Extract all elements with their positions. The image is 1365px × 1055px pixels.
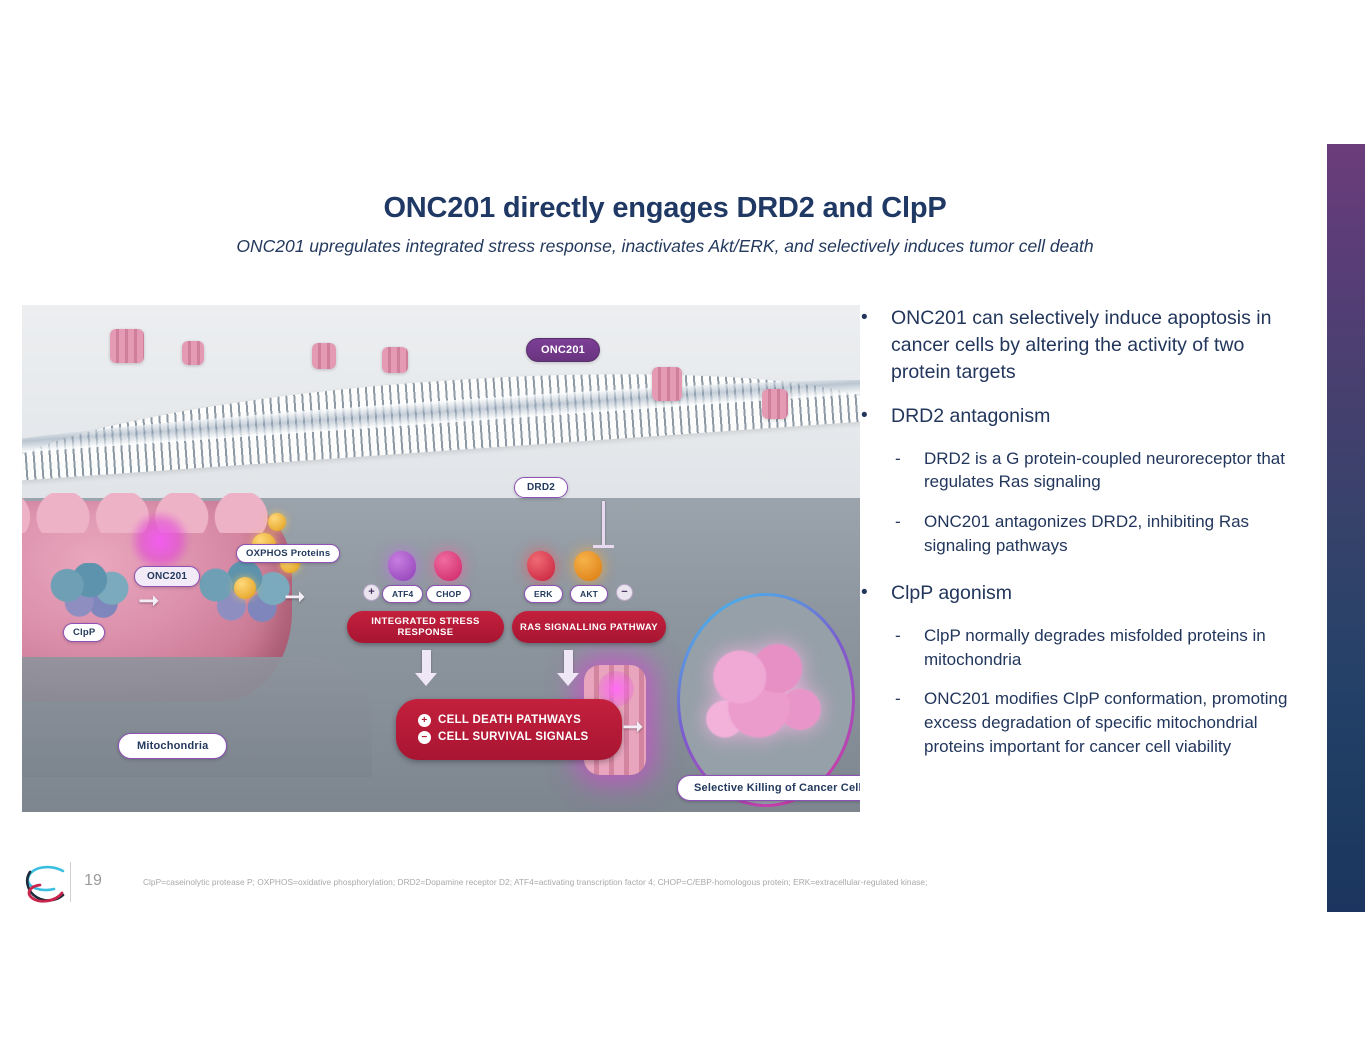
akt-protein-icon <box>574 551 602 581</box>
figure-label-oxphos-proteins: OXPHOS Proteins <box>236 544 340 563</box>
ras-signalling-pathway-bar: RAS SIGNALLING PATHWAY <box>512 611 666 643</box>
cell-survival-line: − CELL SURVIVAL SIGNALS <box>418 729 600 746</box>
sub-bullet-text: ClpP normally degrades misfolded protein… <box>924 624 1305 672</box>
flow-arrow-icon: ➞ <box>284 583 306 609</box>
bullet-text: ClpP agonism <box>891 580 1012 607</box>
sub-bullet-item: - ONC201 antagonizes DRD2, inhibiting Ra… <box>895 510 1305 558</box>
page-number: 19 <box>80 872 106 890</box>
clpp-protein-cluster-left <box>50 563 136 619</box>
footer-divider <box>70 862 71 902</box>
figure-label-akt: AKT <box>570 585 608 603</box>
cell-fate-outcome-box: + CELL DEATH PATHWAYS − CELL SURVIVAL SI… <box>396 699 622 760</box>
chop-protein-icon <box>434 551 462 581</box>
mechanism-of-action-figure: ➞ ➞ + − ONC201 DRD2 ONC201 OXPHOS Protei… <box>22 305 860 812</box>
figure-label-chop: CHOP <box>426 585 471 603</box>
sub-bullet-marker: - <box>895 687 924 758</box>
onc201-glow <box>130 511 190 571</box>
figure-label-onc201-membrane: ONC201 <box>526 338 600 362</box>
figure-label-erk: ERK <box>524 585 563 603</box>
minus-symbol-icon: − <box>418 731 431 744</box>
company-logo <box>22 862 68 906</box>
inhibition-arrow-icon <box>602 501 605 545</box>
oxphos-protein-dot <box>268 513 286 531</box>
figure-label-drd2: DRD2 <box>514 477 568 498</box>
atf4-protein-icon <box>388 551 416 581</box>
bullet-marker: • <box>855 403 891 430</box>
down-arrow-icon <box>422 650 431 674</box>
flow-arrow-icon: ➞ <box>138 587 160 613</box>
cell-survival-signals-label: CELL SURVIVAL SIGNALS <box>438 729 589 746</box>
bullet-marker: • <box>855 580 891 607</box>
plus-symbol-icon: + <box>418 714 431 727</box>
sub-bullet-item: - ClpP normally degrades misfolded prote… <box>895 624 1305 672</box>
receptor-protein-icon <box>762 389 788 419</box>
sub-bullet-item: - ONC201 modifies ClpP conformation, pro… <box>895 687 1305 758</box>
receptor-protein-icon <box>652 367 682 401</box>
activation-plus-symbol: + <box>363 584 380 601</box>
bullet-marker: • <box>855 305 891 386</box>
bullet-text: ONC201 can selectively induce apoptosis … <box>891 305 1305 386</box>
page-subtitle: ONC201 upregulates integrated stress res… <box>0 236 1330 257</box>
down-arrow-icon <box>564 650 573 674</box>
mitochondrion-shadow <box>22 657 372 777</box>
erk-protein-icon <box>527 551 555 581</box>
integrated-stress-response-bar: INTEGRATED STRESS RESPONSE <box>347 611 504 643</box>
sub-bullet-marker: - <box>895 624 924 672</box>
inhibition-minus-symbol: − <box>616 584 633 601</box>
sub-bullet-marker: - <box>895 510 924 558</box>
oxphos-protein-dot <box>234 577 256 599</box>
sub-bullet-item: - DRD2 is a G protein-coupled neurorecep… <box>895 447 1305 495</box>
bullet-text: DRD2 antagonism <box>891 403 1050 430</box>
sub-bullet-marker: - <box>895 447 924 495</box>
sub-bullet-text: DRD2 is a G protein-coupled neurorecepto… <box>924 447 1305 495</box>
figure-label-mitochondria: Mitochondria <box>118 733 227 759</box>
sub-bullet-text: ONC201 modifies ClpP conformation, promo… <box>924 687 1305 758</box>
bullet-item: • ClpP agonism <box>855 580 1305 607</box>
figure-label-atf4: ATF4 <box>382 585 423 603</box>
receptor-protein-icon <box>312 343 336 369</box>
figure-label-selective-killing: Selective Killing of Cancer Cells <box>677 775 860 801</box>
sub-bullet-text: ONC201 antagonizes DRD2, inhibiting Ras … <box>924 510 1305 558</box>
abbreviations-footnote: ClpP=caseinolytic protease P; OXPHOS=oxi… <box>143 877 1143 887</box>
flow-arrow-icon: ➞ <box>622 713 644 739</box>
receptor-protein-icon <box>382 347 408 373</box>
bullet-list: • ONC201 can selectively induce apoptosi… <box>855 305 1305 775</box>
figure-label-onc201-mito: ONC201 <box>134 566 200 587</box>
cell-death-line: + CELL DEATH PATHWAYS <box>418 712 600 729</box>
accent-gradient-bar <box>1327 144 1365 912</box>
cell-death-pathways-label: CELL DEATH PATHWAYS <box>438 712 581 729</box>
receptor-protein-icon <box>110 329 144 363</box>
figure-label-clpp: ClpP <box>63 623 105 642</box>
cancer-cell-icon <box>702 635 828 755</box>
bullet-item: • ONC201 can selectively induce apoptosi… <box>855 305 1305 386</box>
page-title: ONC201 directly engages DRD2 and ClpP <box>0 192 1330 225</box>
bullet-item: • DRD2 antagonism <box>855 403 1305 430</box>
receptor-protein-icon <box>182 341 204 365</box>
